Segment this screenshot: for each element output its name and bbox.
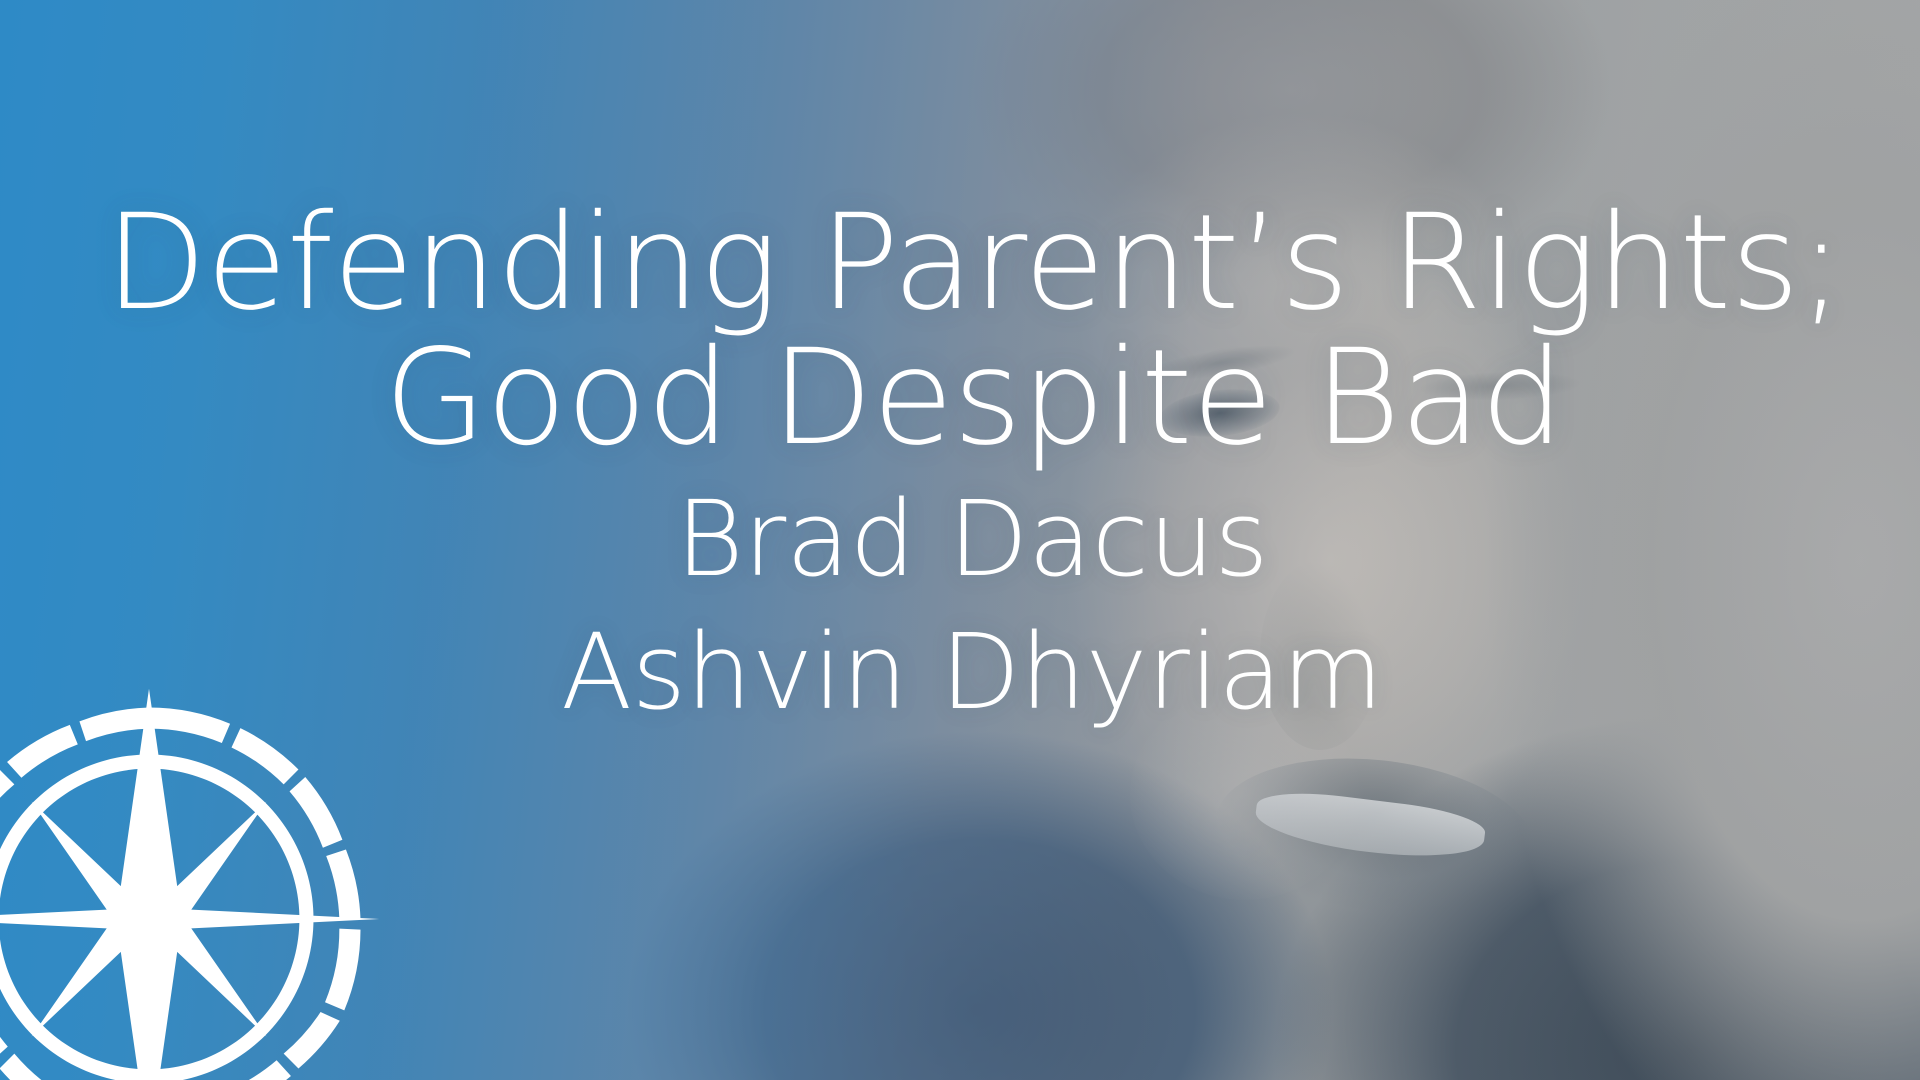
title-text-block: Defending Parent’s Rights; Good Despite … bbox=[0, 0, 1920, 739]
title-card: Defending Parent’s Rights; Good Despite … bbox=[0, 0, 1920, 1080]
page-title: Defending Parent’s Rights; Good Despite … bbox=[0, 196, 1920, 465]
title-line-2: Good Despite Bad bbox=[28, 331, 1920, 466]
speaker-name-1: Brad Dacus bbox=[24, 473, 1920, 606]
title-line-1: Defending Parent’s Rights; bbox=[28, 196, 1920, 331]
speaker-name-2: Ashvin Dhyriam bbox=[24, 606, 1920, 739]
speaker-list: Brad Dacus Ashvin Dhyriam bbox=[0, 473, 1920, 739]
